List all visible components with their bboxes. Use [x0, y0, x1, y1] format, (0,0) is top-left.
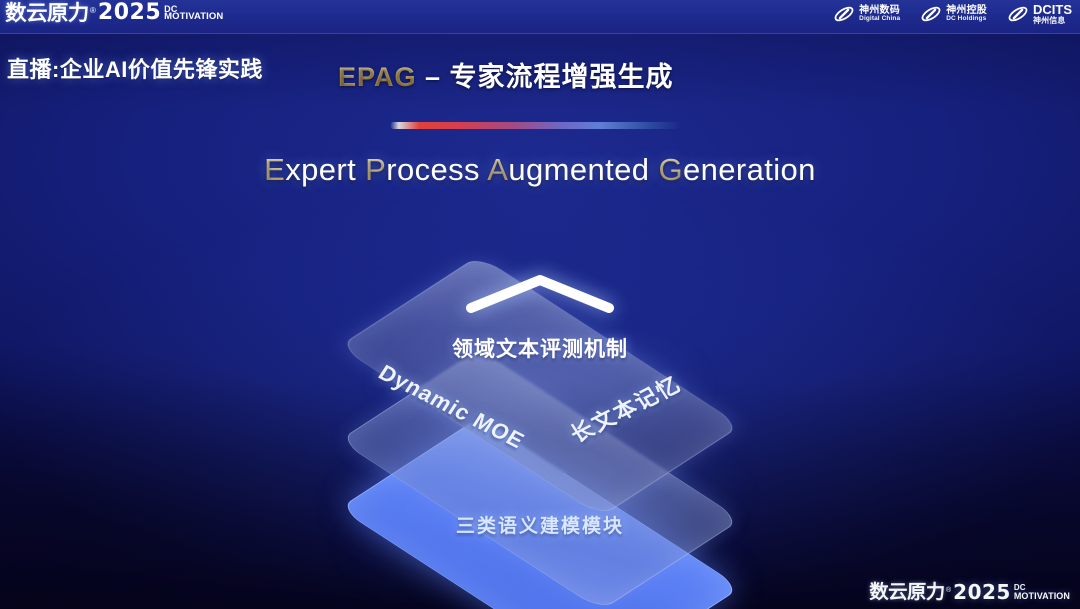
page-title-chinese: – 专家流程增强生成 — [417, 62, 674, 92]
brand-registered-mark: ® — [90, 7, 96, 15]
brand-dc-motivation: DC MOTIVATION — [164, 5, 223, 22]
subtitle-cap-p: P — [365, 152, 386, 187]
page-subtitle: Expert Process Augmented Generation — [0, 152, 1080, 188]
logo-label-en: DCITS — [1033, 3, 1072, 16]
logo-digital-china: 神州数码 Digital China — [833, 3, 900, 25]
swirl-logo-icon — [833, 3, 855, 25]
brand-year: 2025 — [98, 2, 161, 24]
subtitle-cap-a: A — [487, 152, 508, 187]
watermark-dc-motivation: DC MOTIVATION — [1014, 584, 1070, 600]
swirl-logo-icon — [1007, 3, 1029, 25]
logo-label-cn: 神州信息 — [1033, 17, 1072, 25]
subtitle-cap-e: E — [264, 152, 285, 187]
logo-dcits: DCITS 神州信息 — [1007, 3, 1072, 25]
stack-layer-bottom-label: 三类语义建模模块 — [0, 511, 1080, 538]
swirl-logo-icon — [920, 3, 942, 25]
title-divider — [390, 122, 682, 129]
slide-canvas: 数云原力 ® 2025 DC MOTIVATION 神州数码 Digital C… — [0, 0, 1080, 609]
brand-motivation-label: MOTIVATION — [164, 13, 223, 22]
partner-logos: 神州数码 Digital China 神州控股 DC Holdings — [833, 3, 1072, 25]
watermark-name-cn: 数云原力 — [869, 583, 944, 602]
subtitle-word-generation: eneration — [683, 152, 816, 187]
chevron-up-icon — [465, 272, 615, 314]
logo-dc-holdings: 神州控股 DC Holdings — [920, 3, 987, 25]
footer-watermark: 数云原力 ® 2025 DC MOTIVATION — [870, 582, 1070, 602]
watermark-registered-mark: ® — [946, 587, 951, 594]
logo-label-en: DC Holdings — [946, 16, 987, 23]
brand-name-cn: 数云原力 — [5, 3, 89, 24]
live-stream-label: 直播:企业AI价值先锋实践 — [7, 52, 263, 84]
stack-layer-top-label: 领域文本评测机制 — [0, 333, 1080, 363]
subtitle-word-augmented: ugmented — [508, 152, 658, 187]
header-bar: 数云原力 ® 2025 DC MOTIVATION 神州数码 Digital C… — [0, 0, 1080, 34]
brand-logo: 数云原力 ® 2025 DC MOTIVATION — [6, 2, 223, 24]
logo-label-en: Digital China — [859, 16, 900, 23]
subtitle-word-process: rocess — [386, 152, 487, 187]
subtitle-cap-g: G — [658, 152, 683, 187]
watermark-motivation-label: MOTIVATION — [1014, 592, 1070, 600]
subtitle-word-expert: xpert — [285, 152, 365, 187]
page-title-acronym: EPAG — [338, 62, 417, 92]
watermark-year: 2025 — [953, 582, 1011, 602]
page-title: EPAG – 专家流程增强生成 — [338, 55, 674, 94]
